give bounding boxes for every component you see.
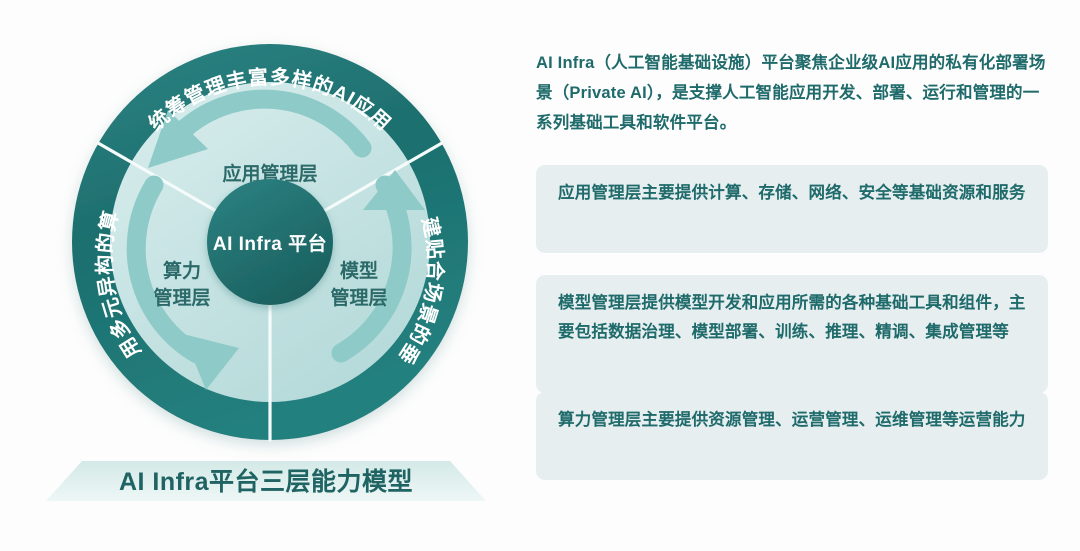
- layer-label-model-line2: 管理层: [330, 286, 387, 309]
- infographic-root: 统筹管理丰富多样的AI应用 高效利用多元异构的算力资源 快速构建贴合场景的垂域模…: [0, 0, 1080, 551]
- hub-label: AI Infra 平台: [213, 232, 327, 255]
- lede-paragraph: AI Infra（人工智能基础设施）平台聚焦企业级AI应用的私有化部署场景（Pr…: [536, 48, 1048, 138]
- compute-layer-card: 算力管理层主要提供资源管理、运营管理、运维管理等运营能力: [536, 392, 1048, 480]
- layer-label-compute-line1: 算力: [163, 259, 201, 282]
- layer-label-model-line1: 模型: [340, 259, 378, 282]
- diagram-title-banner: AI Infra平台三层能力模型: [46, 455, 486, 507]
- diagram-title-text: AI Infra平台三层能力模型: [46, 455, 486, 507]
- application-layer-card: 应用管理层主要提供计算、存储、网络、安全等基础资源和服务: [536, 165, 1048, 253]
- capability-wheel-diagram: 统筹管理丰富多样的AI应用 高效利用多元异构的算力资源 快速构建贴合场景的垂域模…: [0, 0, 520, 551]
- model-layer-card: 模型管理层提供模型开发和应用所需的各种基础工具和组件，主要包括数据治理、模型部署…: [536, 275, 1048, 393]
- wheel-svg: 统筹管理丰富多样的AI应用 高效利用多元异构的算力资源 快速构建贴合场景的垂域模…: [50, 22, 490, 462]
- description-pane: AI Infra（人工智能基础设施）平台聚焦企业级AI应用的私有化部署场景（Pr…: [528, 0, 1080, 551]
- layer-label-compute-line2: 管理层: [153, 286, 210, 309]
